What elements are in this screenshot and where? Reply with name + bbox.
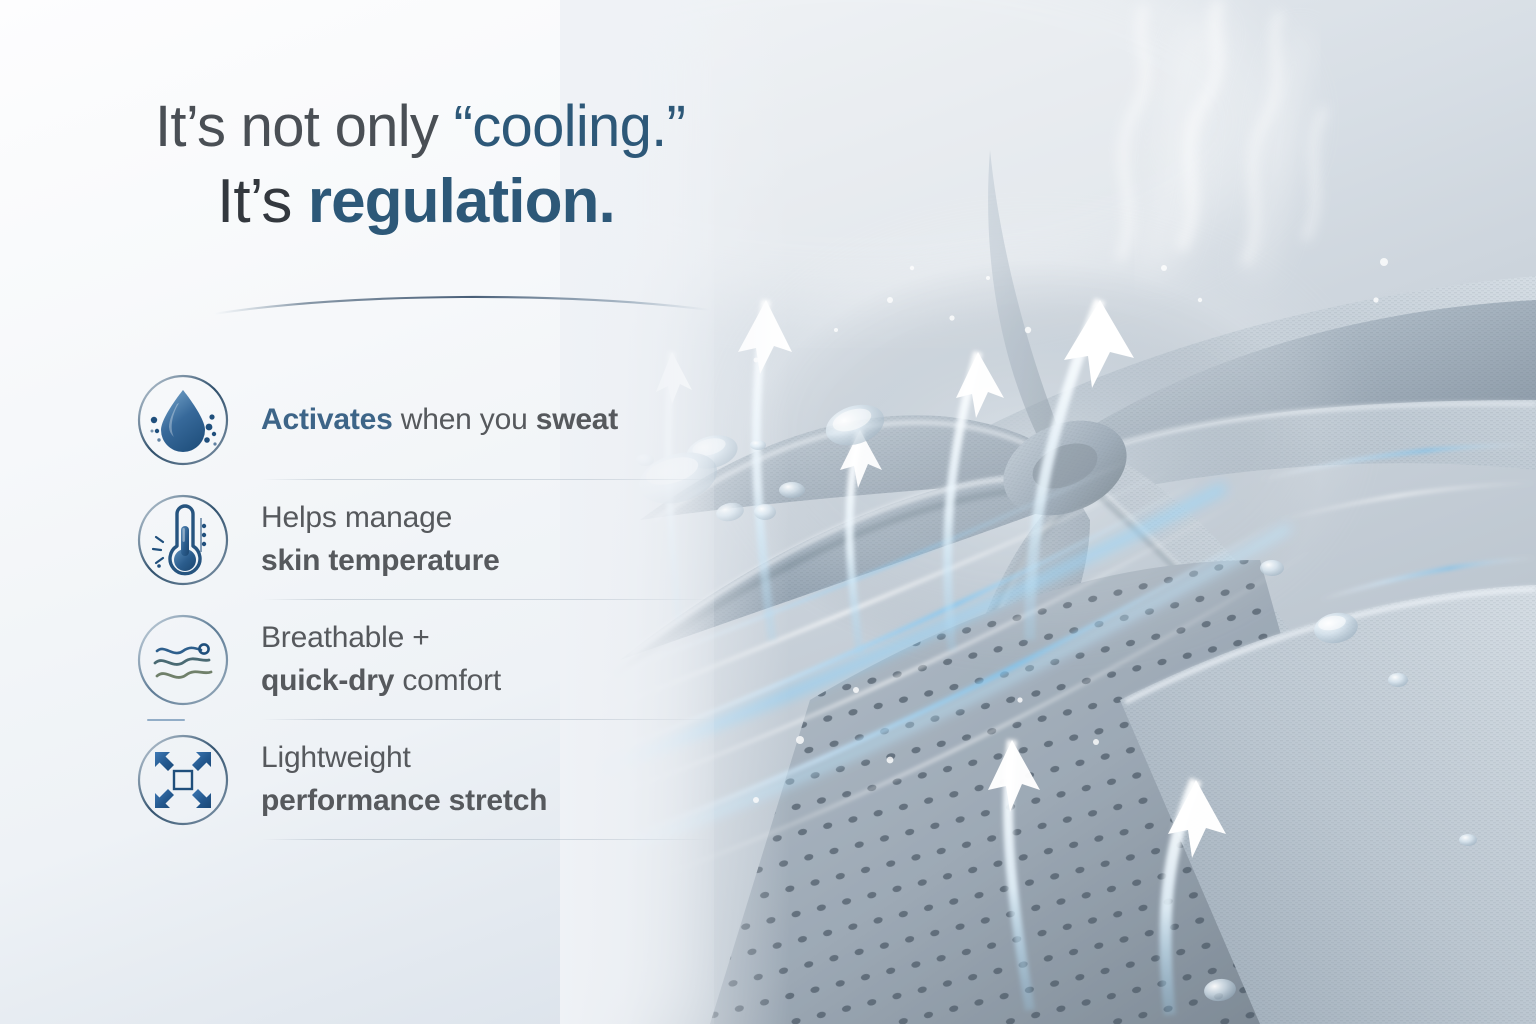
feature-emphasis: quick-dry bbox=[261, 664, 394, 697]
feature-item-stretch[interactable]: Lightweight performance stretch bbox=[133, 728, 733, 832]
airflow-waves-icon bbox=[133, 610, 233, 710]
feature-item-skin-temperature[interactable]: Helps manage skin temperature bbox=[133, 488, 733, 592]
water-droplet-icon bbox=[133, 370, 233, 470]
separator-line bbox=[262, 599, 714, 600]
headline-line-2: It’s regulation. bbox=[217, 169, 795, 236]
infographic-canvas: It’s not only “cooling.” It’s regulation… bbox=[0, 0, 1536, 1024]
feature-text-skin-temperature: Helps manage skin temperature bbox=[261, 497, 500, 582]
feature-separator bbox=[133, 472, 733, 488]
feature-item-breathable[interactable]: Breathable + quick-dry comfort bbox=[133, 608, 733, 712]
headline-line-1-prefix: It’s not only bbox=[155, 94, 454, 159]
feature-separator-ticked bbox=[133, 712, 733, 728]
feature-line-emphasis: skin temperature bbox=[261, 540, 500, 583]
feature-line-2: quick-dry comfort bbox=[261, 660, 501, 703]
headline-line-1-quoted: “cooling.” bbox=[454, 94, 686, 159]
four-way-stretch-icon bbox=[133, 730, 233, 830]
thermometer-icon bbox=[133, 490, 233, 590]
page-title: It’s not only “cooling.” It’s regulation… bbox=[155, 96, 795, 236]
feature-line: Lightweight bbox=[261, 737, 547, 780]
feature-line: Activates when you sweat bbox=[261, 399, 618, 442]
feature-item-activates[interactable]: Activates when you sweat bbox=[133, 368, 733, 472]
feature-line: Helps manage bbox=[261, 497, 500, 540]
headline-line-1: It’s not only “cooling.” bbox=[155, 96, 795, 159]
feature-text-breathable: Breathable + quick-dry comfort bbox=[261, 617, 501, 702]
feature-plain: comfort bbox=[394, 664, 501, 697]
feature-plain: when you bbox=[393, 403, 536, 436]
content-panel: It’s not only “cooling.” It’s regulation… bbox=[0, 0, 760, 1024]
headline-line-2-prefix: It’s bbox=[217, 167, 308, 236]
feature-emphasis: Activates bbox=[261, 403, 393, 436]
feature-line: Breathable + bbox=[261, 617, 501, 660]
headline-line-2-strong: regulation. bbox=[308, 167, 615, 236]
feature-emphasis-2: sweat bbox=[536, 403, 618, 436]
feature-list: Activates when you sweat bbox=[133, 368, 733, 848]
headline-divider-arc bbox=[212, 288, 712, 322]
feature-separator bbox=[133, 592, 733, 608]
feature-separator bbox=[133, 832, 733, 848]
separator-line bbox=[262, 719, 714, 720]
feature-text-activates: Activates when you sweat bbox=[261, 399, 618, 442]
separator-tick bbox=[147, 719, 185, 721]
separator-line bbox=[262, 839, 714, 840]
headline-divider bbox=[212, 288, 712, 322]
feature-text-stretch: Lightweight performance stretch bbox=[261, 737, 547, 822]
separator-line bbox=[262, 479, 714, 480]
feature-line-emphasis: performance stretch bbox=[261, 780, 547, 823]
